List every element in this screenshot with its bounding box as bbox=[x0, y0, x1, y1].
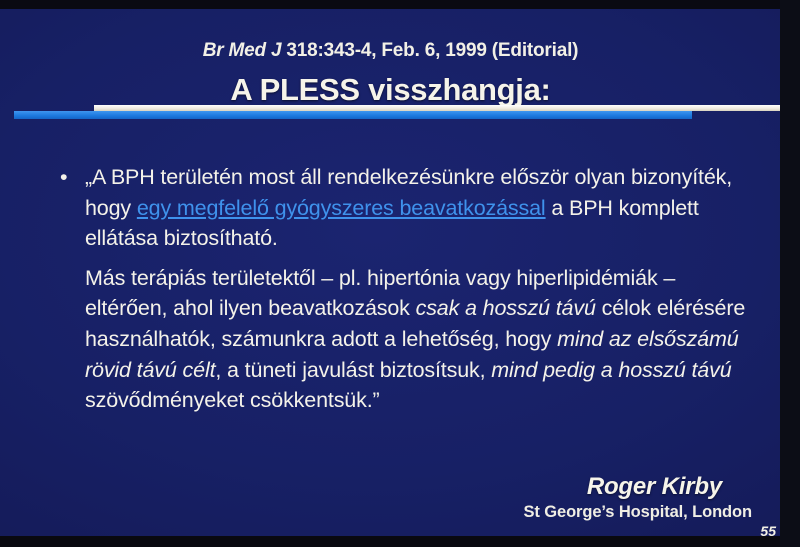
attribution-author: Roger Kirby bbox=[587, 473, 722, 501]
bullet-list-item: • „A BPH területén most áll rendelkezésü… bbox=[58, 162, 758, 416]
slide-frame: Br Med J 318:343-4, Feb. 6, 1999 (Editor… bbox=[0, 0, 800, 547]
photo-edge-top bbox=[0, 0, 800, 9]
citation-reference: 318:343-4, Feb. 6, 1999 (Editorial) bbox=[281, 40, 578, 61]
citation-journal: Br Med J bbox=[203, 40, 282, 61]
citation-line: Br Med J 318:343-4, Feb. 6, 1999 (Editor… bbox=[0, 40, 781, 62]
quote-segment-plain: , a tüneti javulást biztosítsuk, bbox=[215, 358, 491, 382]
slide-body: • „A BPH területén most áll rendelkezésü… bbox=[58, 162, 758, 416]
quote-segment-plain: szövődményeket csökkentsük.” bbox=[85, 388, 380, 412]
quote-segment-link[interactable]: egy megfelelő gyógyszeres beavatkozással bbox=[137, 196, 546, 220]
photo-edge-right bbox=[780, 0, 800, 547]
quote-paragraph-2: Más terápiás területektől – pl. hipertón… bbox=[85, 263, 758, 416]
attribution-affiliation: St George’s Hospital, London bbox=[523, 503, 752, 522]
page-title: A PLESS visszhangja: bbox=[0, 72, 781, 108]
quote-segment-italic: mind pedig a hosszú távú bbox=[491, 358, 731, 382]
photo-edge-bottom bbox=[0, 536, 800, 547]
bullet-icon: • bbox=[60, 162, 67, 193]
quote-paragraph-1: „A BPH területén most áll rendelkezésünk… bbox=[85, 162, 758, 254]
quote-segment-italic: csak a hosszú távú bbox=[416, 296, 596, 320]
title-rule-blue bbox=[14, 111, 692, 119]
